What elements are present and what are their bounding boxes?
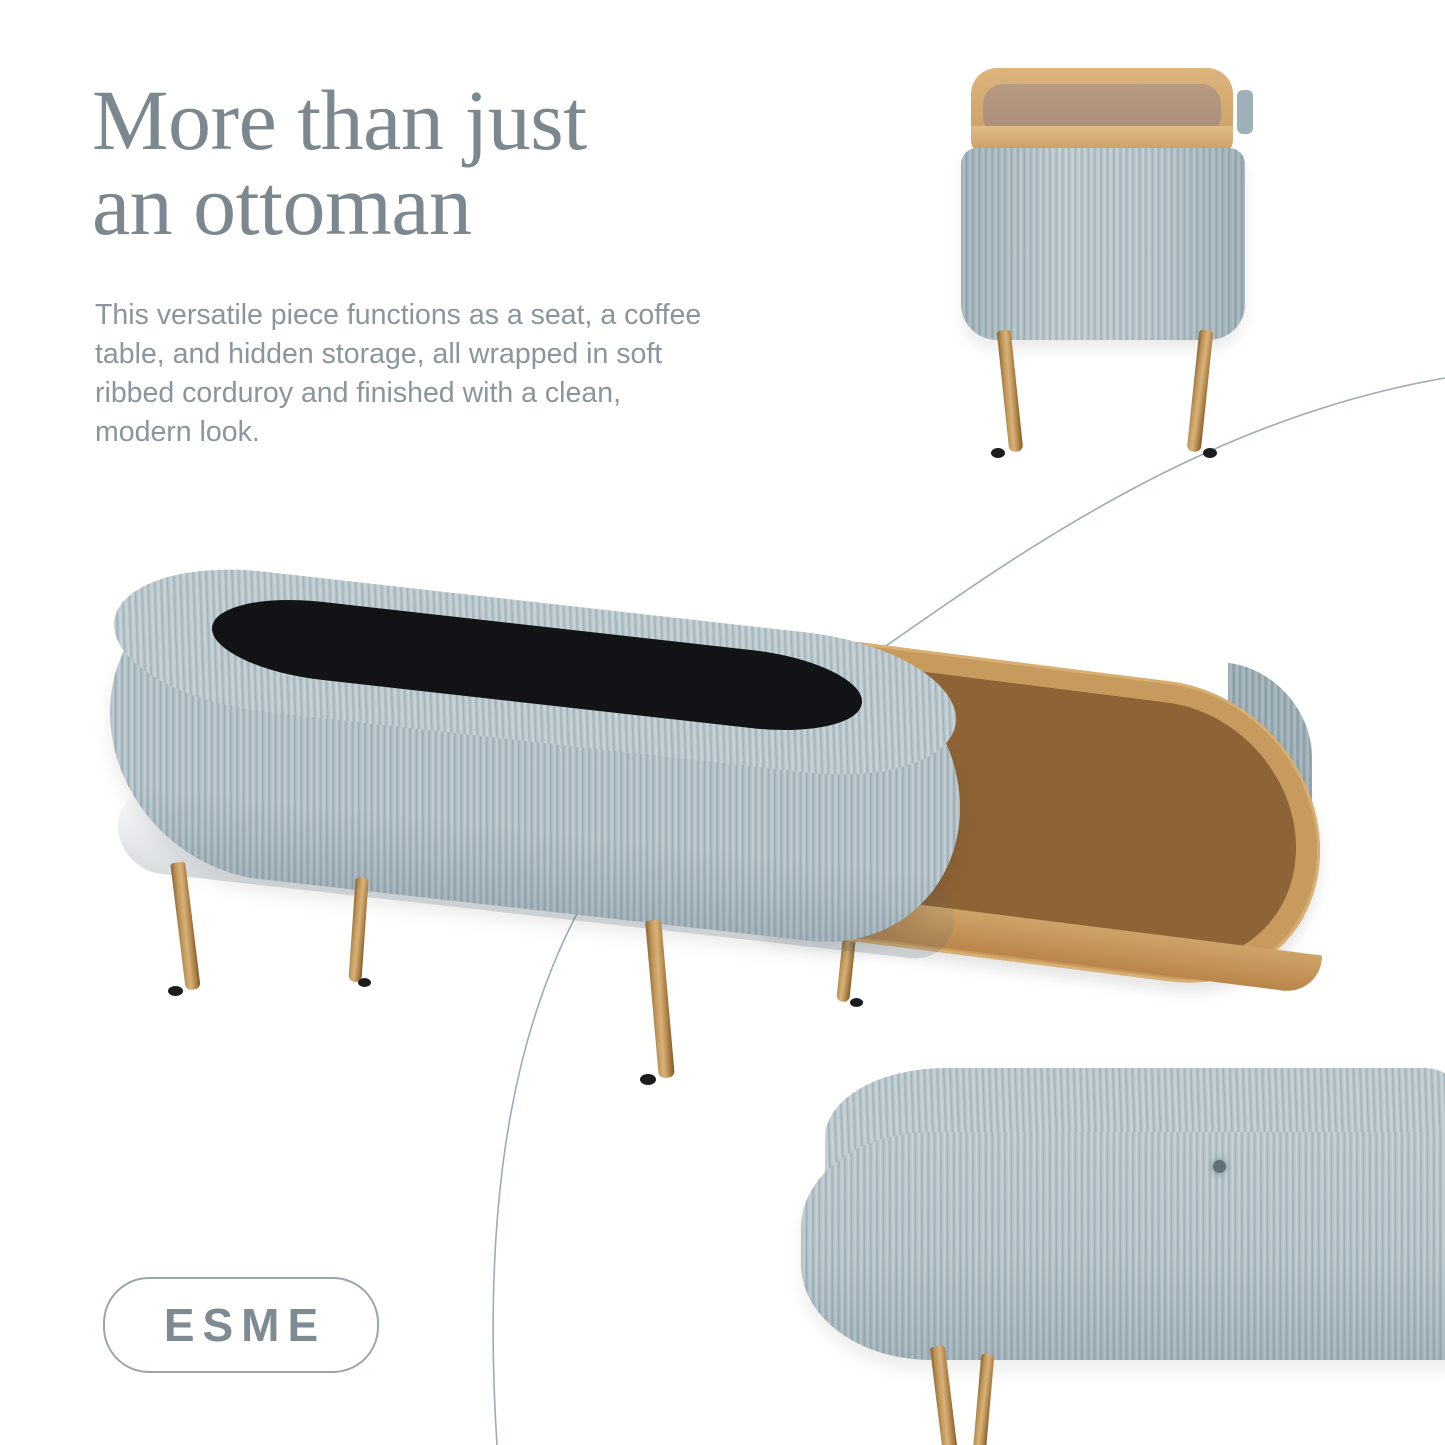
ottoman-leg-tip [168, 986, 183, 996]
ottoman-leg-tip [991, 448, 1005, 458]
ottoman-leg [930, 1346, 959, 1445]
ottoman-leg [1187, 330, 1214, 453]
ottoman-leg [170, 862, 200, 991]
tufted-button [1213, 1160, 1226, 1173]
product-description: This versatile piece functions as a seat… [95, 296, 775, 452]
brand-badge: ESME [103, 1277, 379, 1373]
ottoman-leg [973, 1354, 995, 1445]
ottoman-leg-tip [1203, 448, 1217, 458]
ottoman-leg [997, 330, 1024, 453]
ottoman-leg [645, 920, 675, 1079]
product-marketing-canvas: More than just an ottoman This versatile… [0, 0, 1445, 1445]
ottoman-body-end-shading [961, 148, 1245, 340]
main-product-image [100, 590, 1330, 1150]
page-title: More than just an ottoman [92, 78, 892, 248]
brand-badge-label: ESME [156, 1298, 326, 1352]
detail-image-closed-bench [795, 1068, 1445, 1445]
detail-image-end-view [955, 62, 1285, 462]
lid-pull-tab [1237, 90, 1253, 134]
bench-body-shading [801, 1132, 1445, 1360]
ottoman-leg-tip [850, 998, 863, 1007]
ottoman-leg-tip [358, 978, 371, 987]
ottoman-leg-tip [640, 1074, 656, 1085]
